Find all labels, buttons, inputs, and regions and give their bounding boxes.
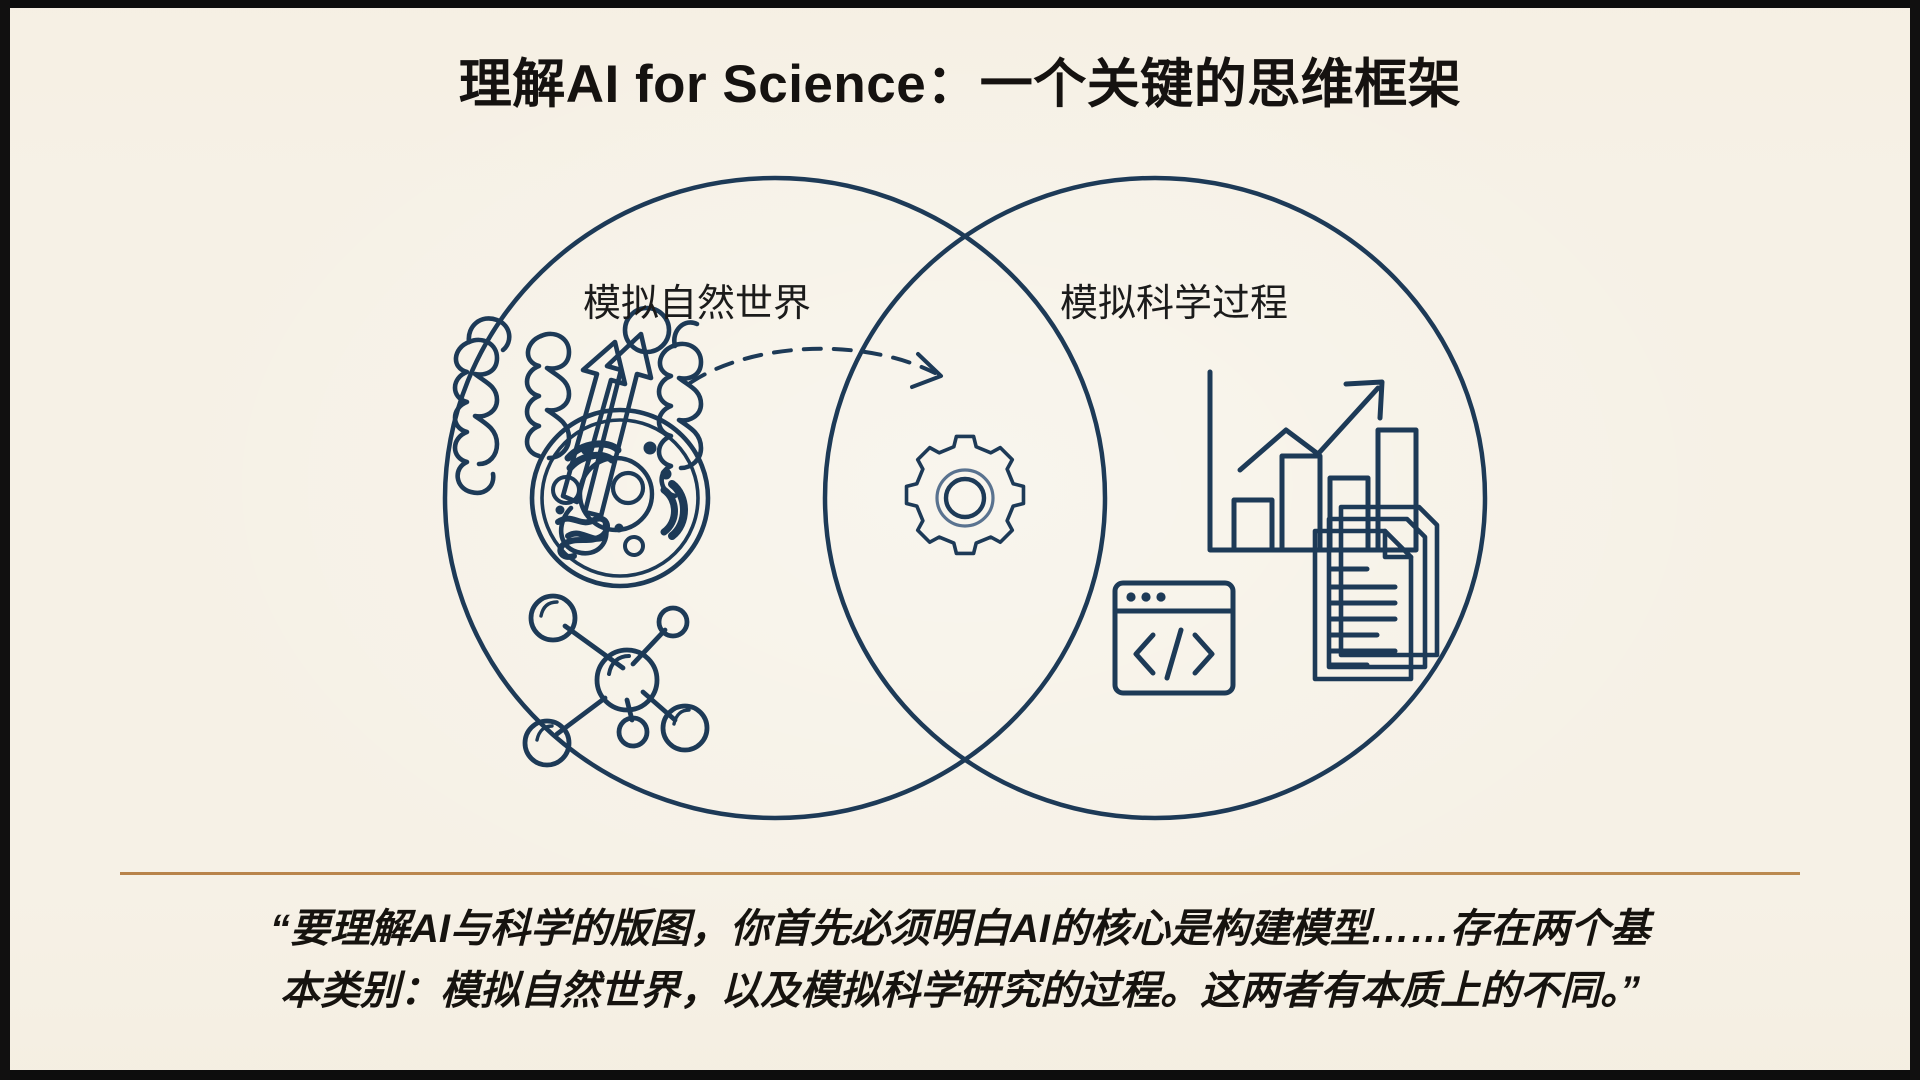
- quote-line-1: “要理解AI与科学的版图，你首先必须明白AI的核心是构建模型……存在两个基: [110, 898, 1810, 960]
- venn-label-left: 模拟自然世界: [583, 272, 811, 327]
- letterbox-top: [0, 0, 1920, 8]
- venn-diagram: [390, 168, 1540, 828]
- gear-icon: [907, 436, 1024, 553]
- page-title: 理解AI for Science：一个关键的思维框架: [0, 42, 1920, 118]
- venn-label-right: 模拟科学过程: [1060, 272, 1288, 327]
- letterbox-right: [1910, 0, 1920, 1080]
- document-stack-icon: [1315, 507, 1437, 679]
- quote-divider: [120, 872, 1800, 875]
- bar-chart-trend-icon: [1210, 372, 1416, 550]
- quote-line-2: 本类别：模拟自然世界，以及模拟科学研究的过程。这两者有本质上的不同。”: [110, 960, 1810, 1022]
- quote-block: “要理解AI与科学的版图，你首先必须明白AI的核心是构建模型……存在两个基 本类…: [110, 898, 1810, 1022]
- code-window-icon: [1115, 583, 1233, 693]
- letterbox-left: [0, 0, 10, 1080]
- molecule-icon: [525, 596, 707, 765]
- slide-canvas: 理解AI for Science：一个关键的思维框架: [0, 0, 1920, 1080]
- letterbox-bottom: [0, 1070, 1920, 1080]
- dashed-arrow-icon: [690, 349, 941, 387]
